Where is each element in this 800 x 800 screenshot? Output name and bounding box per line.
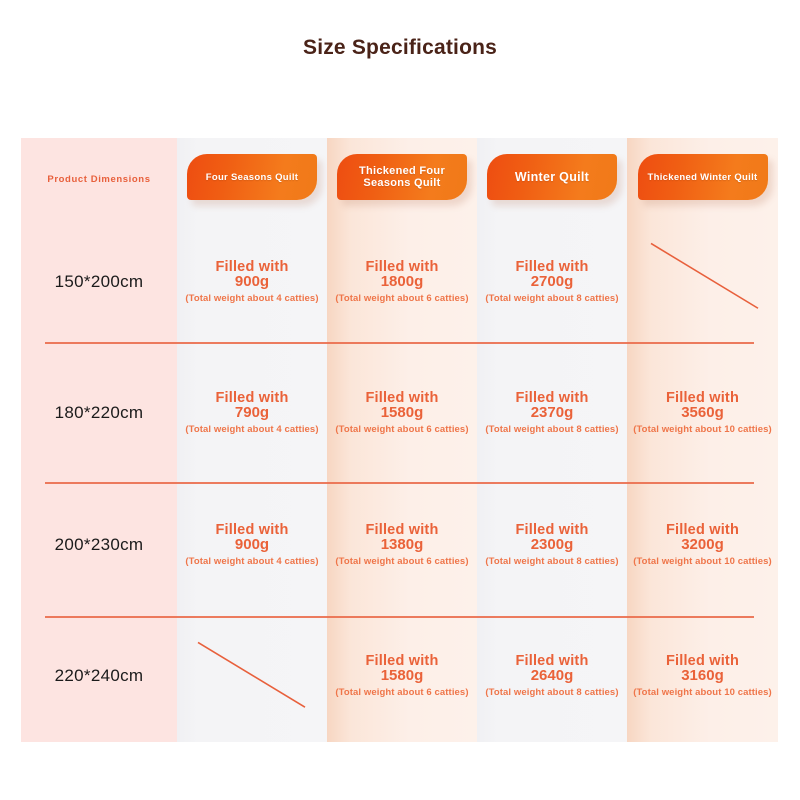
fill-note: (Total weight about 8 catties) [485,424,618,435]
table-cell: Filled with 3200g (Total weight about 10… [627,479,778,611]
fill-amount: 900g [185,274,318,290]
fill-note: (Total weight about 6 catties) [335,687,468,698]
fill-note: (Total weight about 8 catties) [485,293,618,304]
fill-spec: Filled with 3160g (Total weight about 10… [633,654,772,698]
column-header-winter-quilt: Winter Quilt [477,138,627,216]
table-column-thickened-four-seasons-quilt: Thickened Four Seasons Quilt Filled with… [327,138,477,742]
fill-spec: Filled with 1580g (Total weight about 6 … [335,391,468,435]
row-label: 220*240cm [55,666,144,686]
table-cell: Filled with 790g (Total weight about 4 c… [177,348,327,480]
fill-note: (Total weight about 6 catties) [335,424,468,435]
table-column-winter-quilt: Winter Quilt Filled with 2700g (Total we… [477,138,627,742]
table-cell: Filled with 2700g (Total weight about 8 … [477,216,627,348]
table-cell: Filled with 2300g (Total weight about 8 … [477,479,627,611]
column-header-thickened-four-seasons-quilt: Thickened Four Seasons Quilt [327,138,477,216]
fill-spec: Filled with 790g (Total weight about 4 c… [185,391,318,435]
fill-amount: 1580g [335,668,468,684]
fill-spec: Filled with 2700g (Total weight about 8 … [485,260,618,304]
fill-amount: 1380g [335,537,468,553]
fill-spec: Filled with 2370g (Total weight about 8 … [485,391,618,435]
fill-spec: Filled with 900g (Total weight about 4 c… [185,523,318,567]
fill-amount: 2640g [485,668,618,684]
not-available-slash-icon [627,216,778,348]
header-pill: Four Seasons Quilt [187,154,317,200]
fill-amount: 3200g [633,537,772,553]
fill-amount: 3560g [633,405,772,421]
fill-spec: Filled with 900g (Total weight about 4 c… [185,260,318,304]
fill-amount: 3160g [633,668,772,684]
fill-spec: Filled with 2300g (Total weight about 8 … [485,523,618,567]
header-pill-label: Thickened Four Seasons Quilt [337,165,467,189]
table-cell: Filled with 1800g (Total weight about 6 … [327,216,477,348]
table-row: 220*240cm [21,611,177,743]
column-header-thickened-winter-quilt: Thickened Winter Quilt [627,138,778,216]
fill-spec: Filled with 3200g (Total weight about 10… [633,523,772,567]
fill-note: (Total weight about 10 catties) [633,424,772,435]
fill-amount: 900g [185,537,318,553]
table-cell: Filled with 2370g (Total weight about 8 … [477,348,627,480]
table-cell: Filled with 1580g (Total weight about 6 … [327,348,477,480]
row-label: 200*230cm [55,535,144,555]
fill-spec: Filled with 3560g (Total weight about 10… [633,391,772,435]
fill-spec: Filled with 1580g (Total weight about 6 … [335,654,468,698]
fill-note: (Total weight about 4 catties) [185,293,318,304]
header-pill-label: Thickened Winter Quilt [642,172,764,183]
fill-spec: Filled with 1380g (Total weight about 6 … [335,523,468,567]
header-pill-label: Four Seasons Quilt [200,172,305,183]
table-column-thickened-winter-quilt: Thickened Winter Quilt Filled with 3560g… [627,138,778,742]
fill-note: (Total weight about 4 catties) [185,424,318,435]
fill-note: (Total weight about 8 catties) [485,556,618,567]
fill-amount: 1800g [335,274,468,290]
table-row: 150*200cm [21,216,177,348]
fill-amount: 2300g [485,537,618,553]
table-cell-empty [627,216,778,348]
table-row: 180*220cm [21,348,177,480]
size-specifications-page: Size Specifications Product Dimensions 1… [0,0,800,800]
fill-amount: 1580g [335,405,468,421]
table-cell-empty [177,611,327,743]
table-cell: Filled with 900g (Total weight about 4 c… [177,216,327,348]
table-cell: Filled with 1380g (Total weight about 6 … [327,479,477,611]
fill-note: (Total weight about 10 catties) [633,556,772,567]
fill-amount: 2370g [485,405,618,421]
header-pill: Thickened Four Seasons Quilt [337,154,467,200]
dimensions-header-cell: Product Dimensions [21,138,177,216]
not-available-slash-icon [177,611,327,743]
fill-note: (Total weight about 4 catties) [185,556,318,567]
table-column-dimensions: Product Dimensions 150*200cm 180*220cm 2… [21,138,177,742]
table-column-four-seasons-quilt: Four Seasons Quilt Filled with 900g (Tot… [177,138,327,742]
specifications-table: Product Dimensions 150*200cm 180*220cm 2… [21,138,778,742]
table-cell: Filled with 900g (Total weight about 4 c… [177,479,327,611]
fill-note: (Total weight about 10 catties) [633,687,772,698]
dimensions-header-label: Product Dimensions [47,170,150,185]
header-pill: Winter Quilt [487,154,617,200]
row-label: 150*200cm [55,272,144,292]
fill-spec: Filled with 2640g (Total weight about 8 … [485,654,618,698]
row-label: 180*220cm [55,403,144,423]
fill-note: (Total weight about 6 catties) [335,556,468,567]
table-cell: Filled with 3160g (Total weight about 10… [627,611,778,743]
table-row: 200*230cm [21,479,177,611]
header-pill: Thickened Winter Quilt [638,154,768,200]
fill-amount: 2700g [485,274,618,290]
page-title: Size Specifications [303,36,497,60]
page-title-wrap: Size Specifications [0,36,800,60]
fill-note: (Total weight about 6 catties) [335,293,468,304]
table-cell: Filled with 1580g (Total weight about 6 … [327,611,477,743]
fill-note: (Total weight about 8 catties) [485,687,618,698]
fill-amount: 790g [185,405,318,421]
table-cell: Filled with 3560g (Total weight about 10… [627,348,778,480]
column-header-four-seasons-quilt: Four Seasons Quilt [177,138,327,216]
header-pill-label: Winter Quilt [509,170,595,184]
table-cell: Filled with 2640g (Total weight about 8 … [477,611,627,743]
fill-spec: Filled with 1800g (Total weight about 6 … [335,260,468,304]
